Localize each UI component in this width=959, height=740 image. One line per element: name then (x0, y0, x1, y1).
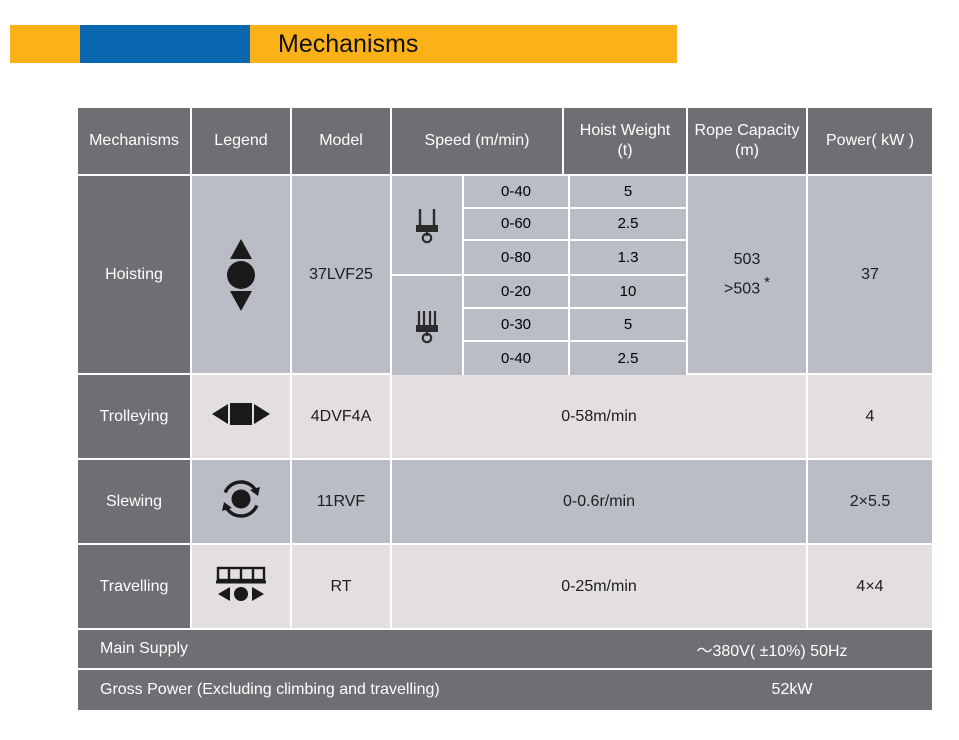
rope-capacity-primary: 503 (734, 250, 761, 270)
trolleying-speed: 0-58m/min (392, 375, 808, 460)
page-banner: Mechanisms (10, 25, 677, 63)
slewing-model: 11RVF (292, 460, 392, 545)
hoisting-label: Hoisting (78, 176, 192, 375)
trolleying-label: Trolleying (78, 375, 192, 460)
rail-travel-icon (208, 562, 274, 612)
header-model: Model (292, 108, 392, 176)
table-row-slewing: Slewing 11RVF 0-0.6r/min 2×5.5 (78, 460, 932, 545)
header-power: Power( kW ) (808, 108, 932, 176)
slewing-speed: 0-0.6r/min (392, 460, 808, 545)
header-mechanisms: Mechanisms (78, 108, 192, 176)
reeving-line: 0-60 2.5 (464, 209, 688, 242)
main-supply-value: ～380V( ±10%) 50Hz (622, 637, 932, 661)
page-title: Mechanisms (278, 25, 418, 63)
speed-value: 0-30 (464, 309, 570, 342)
gross-power-label: Gross Power (Excluding climbing and trav… (78, 681, 662, 699)
travelling-power: 4×4 (808, 545, 932, 630)
table-header-row: Mechanisms Legend Model Speed (m/min) Ho… (78, 108, 932, 176)
header-hoist-weight-line1: Hoist Weight (580, 121, 670, 141)
header-rope-capacity: Rope Capacity (m) (688, 108, 808, 176)
reeving-block-four-fall: 0-20 10 0-30 5 0-40 2.5 (392, 276, 688, 376)
hoisting-rope-capacity: 503 >503* (688, 176, 808, 375)
header-hoist-weight-line2: (t) (580, 141, 670, 161)
speed-value: 0-60 (464, 209, 570, 242)
travelling-model: RT (292, 545, 392, 630)
mechanisms-spec-table: Mechanisms Legend Model Speed (m/min) Ho… (78, 108, 932, 715)
speed-value: 0-40 (464, 176, 570, 209)
rope-capacity-extended-value: >503 (724, 280, 760, 297)
header-rope-capacity-line2: (m) (695, 141, 800, 161)
slewing-power: 2×5.5 (808, 460, 932, 545)
reeving-line: 0-80 1.3 (464, 241, 688, 274)
table-row-trolleying: Trolleying 4DVF4A 0-58m/min 4 (78, 375, 932, 460)
slewing-label: Slewing (78, 460, 192, 545)
rope-capacity-footnote-marker: * (764, 274, 770, 291)
reeving-block-two-fall: 0-40 5 0-60 2.5 0-80 1.3 (392, 176, 688, 276)
table-row-hoisting: Hoisting 37LVF25 (78, 176, 932, 375)
footer-row-gross-power: Gross Power (Excluding climbing and trav… (78, 670, 932, 710)
speed-value: 0-20 (464, 276, 570, 309)
hoisting-power: 37 (808, 176, 932, 375)
speed-value: 0-80 (464, 241, 570, 274)
weight-value: 5 (570, 309, 688, 342)
up-down-arrows-icon (224, 237, 258, 313)
travelling-label: Travelling (78, 545, 192, 630)
weight-value: 1.3 (570, 241, 688, 274)
weight-value: 2.5 (570, 209, 688, 242)
table-row-travelling: Travelling RT 0-25m/min 4×4 (78, 545, 932, 630)
trolleying-legend (192, 375, 292, 460)
main-supply-label: Main Supply (78, 640, 622, 658)
rope-capacity-extended: >503* (724, 274, 770, 299)
header-hoist-weight: Hoist Weight (t) (564, 108, 688, 176)
reeving-line: 0-40 2.5 (464, 342, 688, 375)
hoisting-legend (192, 176, 292, 375)
weight-value: 5 (570, 176, 688, 209)
gross-power-value: 52kW (662, 681, 932, 699)
footer-row-main-supply: Main Supply ～380V( ±10%) 50Hz (78, 630, 932, 670)
banner-accent-block (80, 25, 250, 63)
four-fall-reeving-rows: 0-20 10 0-30 5 0-40 2.5 (464, 276, 688, 376)
two-fall-reeving-rows: 0-40 5 0-60 2.5 0-80 1.3 (464, 176, 688, 274)
travelling-speed: 0-25m/min (392, 545, 808, 630)
trolleying-model: 4DVF4A (292, 375, 392, 460)
hoisting-speed-group: 0-40 5 0-60 2.5 0-80 1.3 (392, 176, 688, 375)
header-legend: Legend (192, 108, 292, 176)
reeving-line: 0-30 5 (464, 309, 688, 342)
two-fall-reeving-icon (392, 176, 464, 274)
weight-value: 10 (570, 276, 688, 309)
reeving-line: 0-40 5 (464, 176, 688, 209)
rotation-icon (218, 476, 264, 528)
hoisting-model: 37LVF25 (292, 176, 392, 375)
slewing-legend (192, 460, 292, 545)
weight-value: 2.5 (570, 342, 688, 375)
trolleying-power: 4 (808, 375, 932, 460)
reeving-line: 0-20 10 (464, 276, 688, 309)
travelling-legend (192, 545, 292, 630)
header-rope-capacity-line1: Rope Capacity (695, 121, 800, 141)
four-fall-reeving-icon (392, 276, 464, 376)
speed-value: 0-40 (464, 342, 570, 375)
trolley-left-right-icon (208, 399, 274, 435)
header-speed: Speed (m/min) (392, 108, 564, 176)
